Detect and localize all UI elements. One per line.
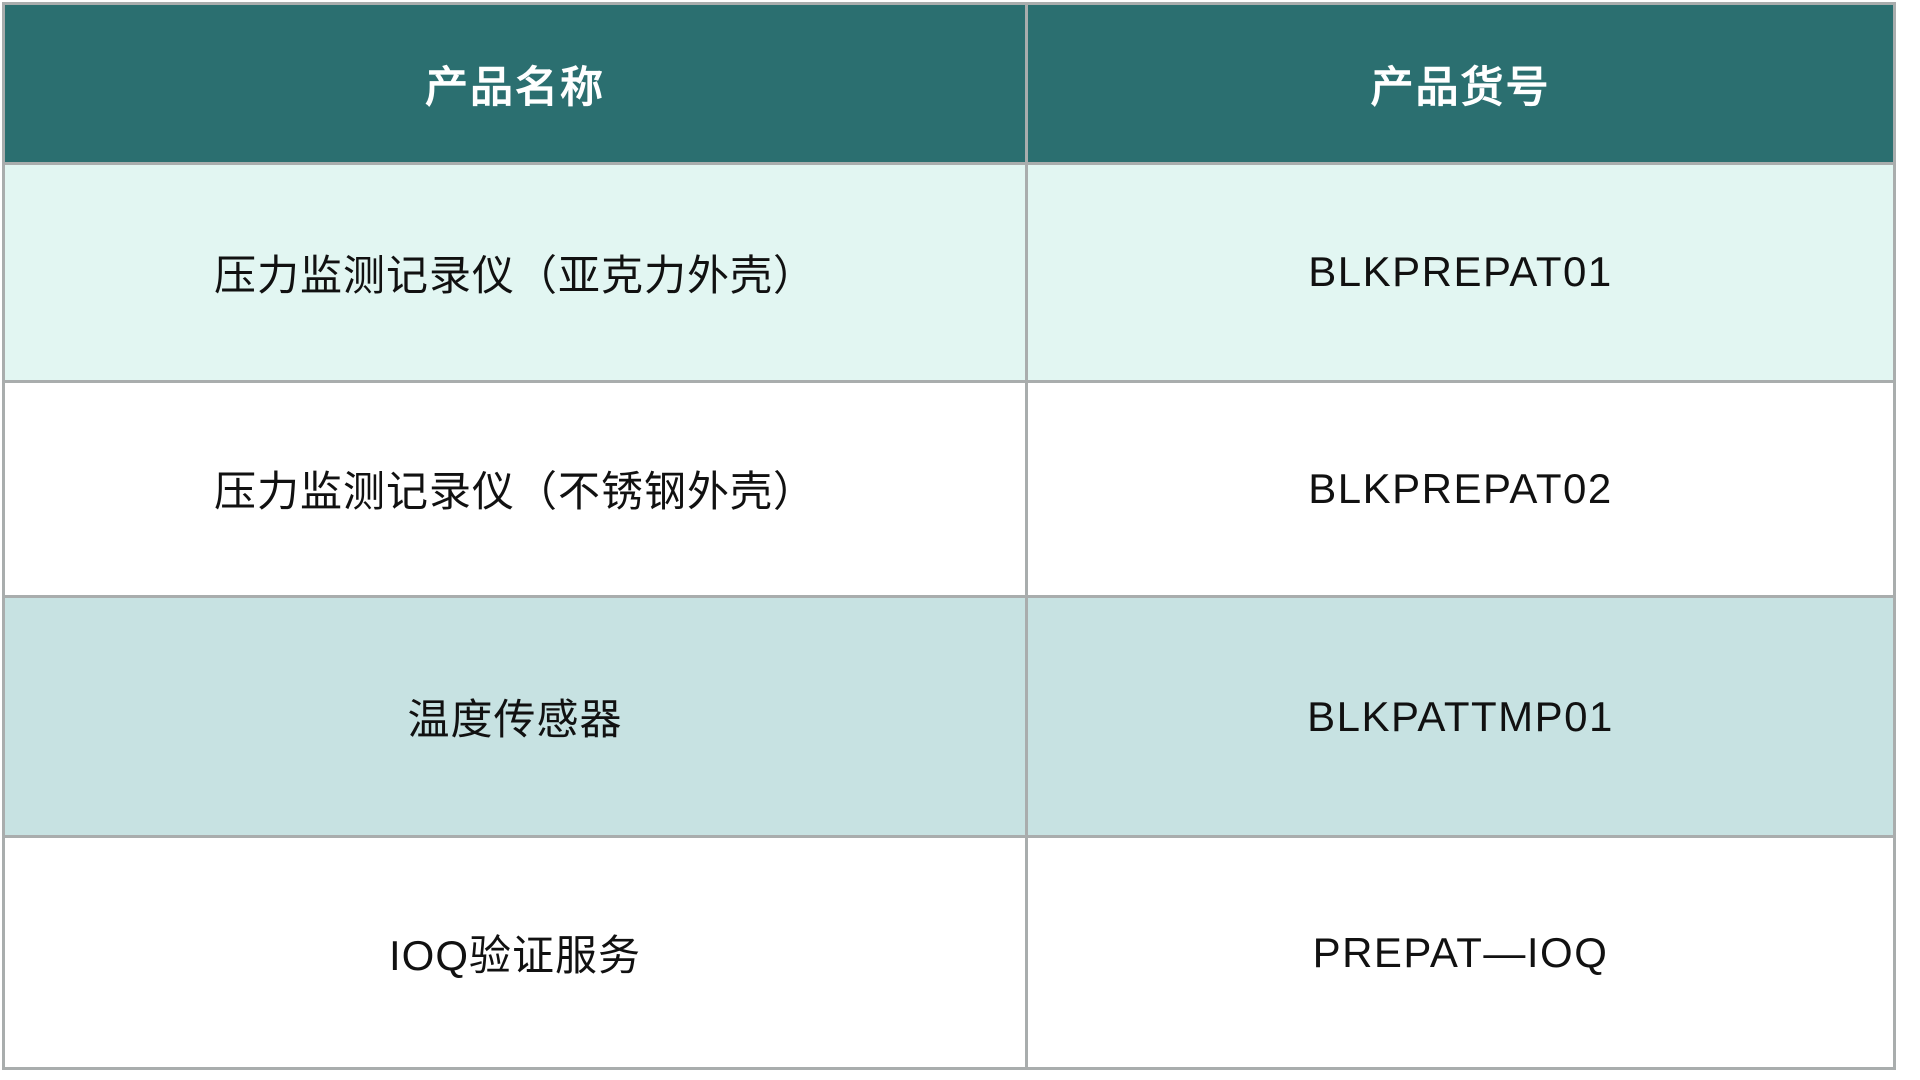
table-row: IOQ验证服务 PREPAT—IOQ — [4, 837, 1895, 1069]
cell-product-code: BLKPREPAT02 — [1027, 381, 1895, 596]
cell-product-name: 温度传感器 — [4, 596, 1027, 836]
table-header-row: 产品名称 产品货号 — [4, 4, 1895, 164]
cell-product-name: 压力监测记录仪（不锈钢外壳） — [4, 381, 1027, 596]
table-row: 压力监测记录仪（不锈钢外壳） BLKPREPAT02 — [4, 381, 1895, 596]
cell-product-name: 压力监测记录仪（亚克力外壳） — [4, 164, 1027, 382]
cell-product-code: BLKPATTMP01 — [1027, 596, 1895, 836]
cell-product-name: IOQ验证服务 — [4, 837, 1027, 1069]
column-header-product-name: 产品名称 — [4, 4, 1027, 164]
table-row: 压力监测记录仪（亚克力外壳） BLKPREPAT01 — [4, 164, 1895, 382]
column-header-product-code: 产品货号 — [1027, 4, 1895, 164]
cell-product-code: PREPAT—IOQ — [1027, 837, 1895, 1069]
table-row: 温度传感器 BLKPATTMP01 — [4, 596, 1895, 836]
cell-product-code: BLKPREPAT01 — [1027, 164, 1895, 382]
product-table: 产品名称 产品货号 压力监测记录仪（亚克力外壳） BLKPREPAT01 压力监… — [2, 2, 1896, 1070]
